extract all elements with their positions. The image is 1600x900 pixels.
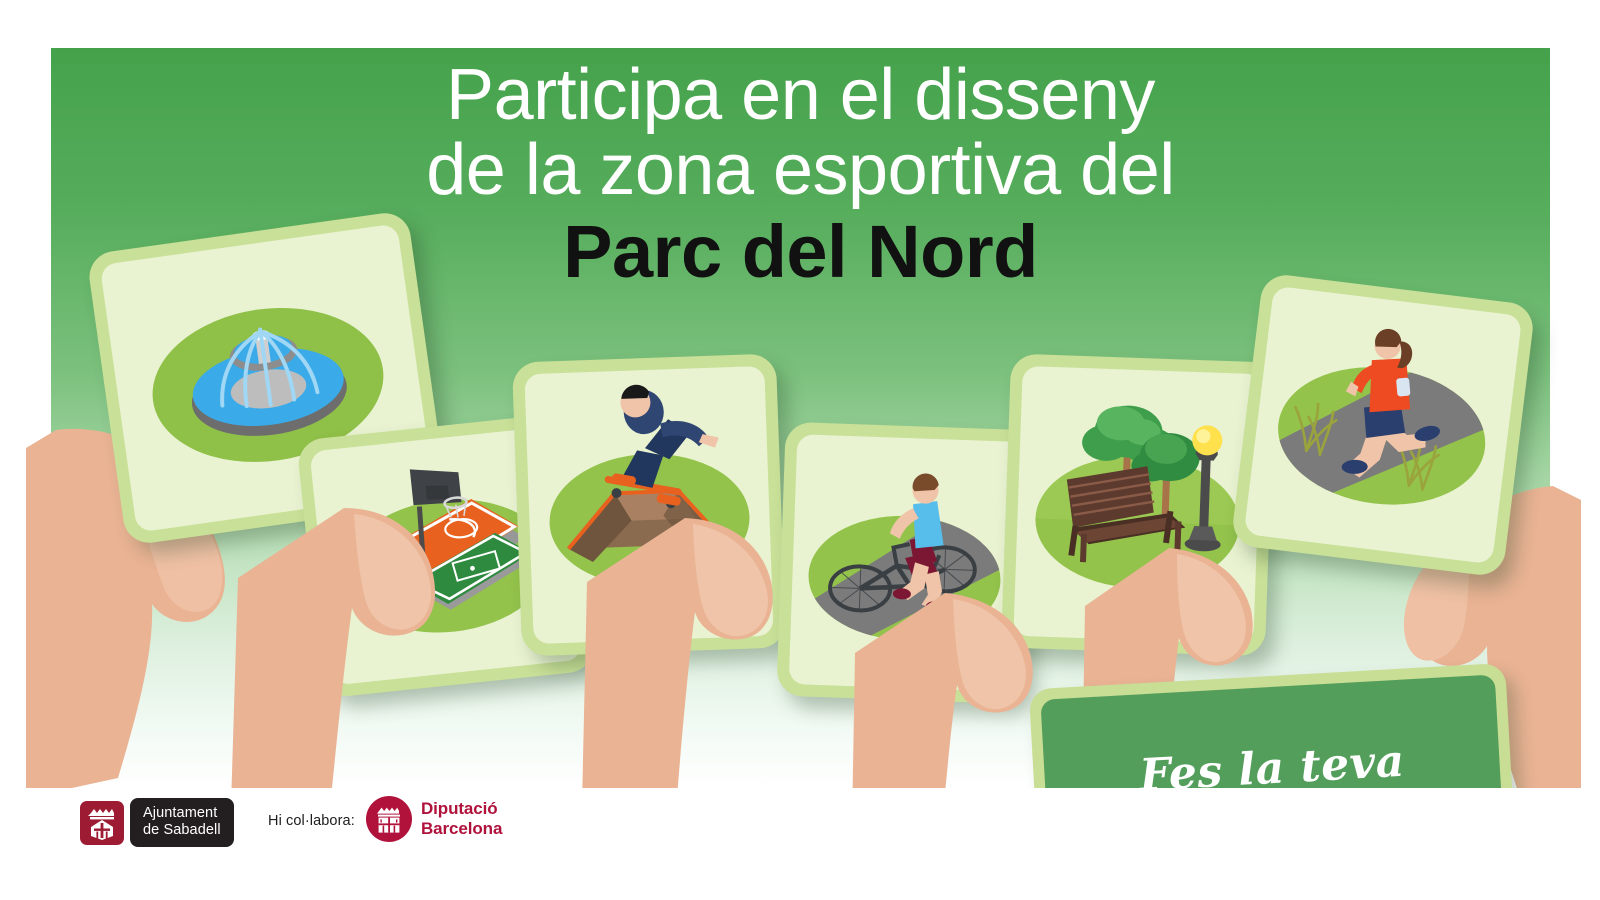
footer-logos: Ajuntament de Sabadell Hi col·labora:: [0, 788, 1600, 900]
headline-line-1: Participa en el disseny: [51, 58, 1550, 133]
collaborator-label: Hi col·labora:: [268, 813, 355, 829]
card-face: [1244, 286, 1523, 565]
ajuntament-name: Ajuntament de Sabadell: [130, 798, 234, 847]
ajuntament-logo[interactable]: Ajuntament de Sabadell: [80, 798, 234, 847]
runner-icon: [1244, 286, 1523, 565]
banner-stage: Participa en el disseny de la zona espor…: [0, 0, 1600, 900]
headline-line-2: de la zona esportiva del: [51, 133, 1550, 208]
diputacio-name: Diputació Barcelona: [421, 799, 502, 838]
sabadell-crest-icon: [80, 801, 124, 845]
diputacio-crest-icon: [366, 796, 412, 842]
card-runner[interactable]: [1230, 272, 1535, 577]
diputacio-logo[interactable]: Diputació Barcelona: [366, 796, 502, 842]
